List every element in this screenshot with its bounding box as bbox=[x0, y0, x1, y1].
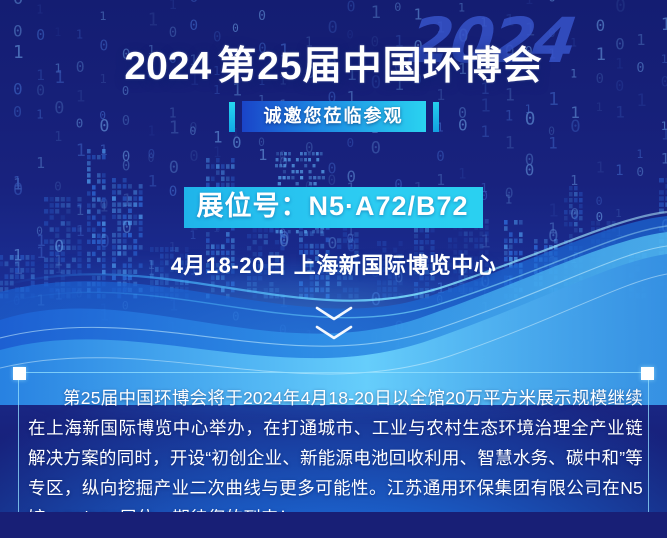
invite-badge-row: 诚邀您莅临参观 bbox=[0, 101, 667, 132]
svg-text:1: 1 bbox=[99, 9, 106, 23]
svg-text:0: 0 bbox=[189, 18, 198, 34]
svg-text:1: 1 bbox=[76, 27, 83, 41]
headline-year: 2024 bbox=[124, 45, 211, 88]
booth-number: 展位号：N5·A72/B72 bbox=[184, 187, 482, 228]
svg-text:0: 0 bbox=[169, 25, 177, 41]
svg-text:0: 0 bbox=[328, 18, 338, 38]
svg-text:0: 0 bbox=[347, 27, 354, 41]
date-venue-line: 4月18-20日 上海新国际博览中心 bbox=[0, 252, 667, 280]
chevron-down-icon bbox=[314, 305, 354, 322]
bottom-strip bbox=[0, 512, 667, 538]
chevron-down-icon-second bbox=[314, 324, 354, 341]
invite-badge: 诚邀您莅临参观 bbox=[242, 101, 426, 132]
page-title: 2024第25届中国环博会 bbox=[0, 44, 667, 90]
svg-text:0: 0 bbox=[189, 0, 198, 6]
svg-text:0: 0 bbox=[13, 22, 23, 41]
svg-text:0: 0 bbox=[13, 0, 23, 9]
svg-text:0: 0 bbox=[258, 9, 266, 24]
scroll-hint bbox=[0, 305, 667, 341]
svg-text:0: 0 bbox=[394, 0, 401, 14]
svg-text:1: 1 bbox=[54, 25, 61, 39]
exhibition-invitation-banner: 0010010110110101101111111010011111010111… bbox=[0, 0, 667, 538]
frame-corner-top-right bbox=[641, 367, 654, 380]
svg-text:1: 1 bbox=[148, 11, 159, 31]
svg-text:1: 1 bbox=[54, 0, 61, 3]
svg-text:0: 0 bbox=[232, 22, 239, 35]
svg-text:1: 1 bbox=[169, 0, 177, 13]
badge-accent-bar-right bbox=[433, 102, 439, 132]
booth-number-row: 展位号：N5·A72/B72 bbox=[0, 187, 667, 228]
svg-text:1: 1 bbox=[371, 3, 381, 23]
frame-corner-top-left bbox=[13, 367, 26, 380]
svg-text:1: 1 bbox=[36, 2, 43, 16]
svg-text:0: 0 bbox=[615, 0, 626, 17]
svg-text:0: 0 bbox=[36, 26, 45, 44]
svg-text:0: 0 bbox=[347, 0, 356, 16]
svg-text:1: 1 bbox=[661, 15, 667, 35]
headline-title: 第25届中国环博会 bbox=[217, 45, 542, 88]
description-text: 第25届中国环博会将于2024年4月18-20日以全馆20万平方米展示规模继续在… bbox=[28, 383, 643, 533]
svg-text:0: 0 bbox=[596, 16, 606, 35]
badge-accent-bar-left bbox=[229, 102, 235, 132]
